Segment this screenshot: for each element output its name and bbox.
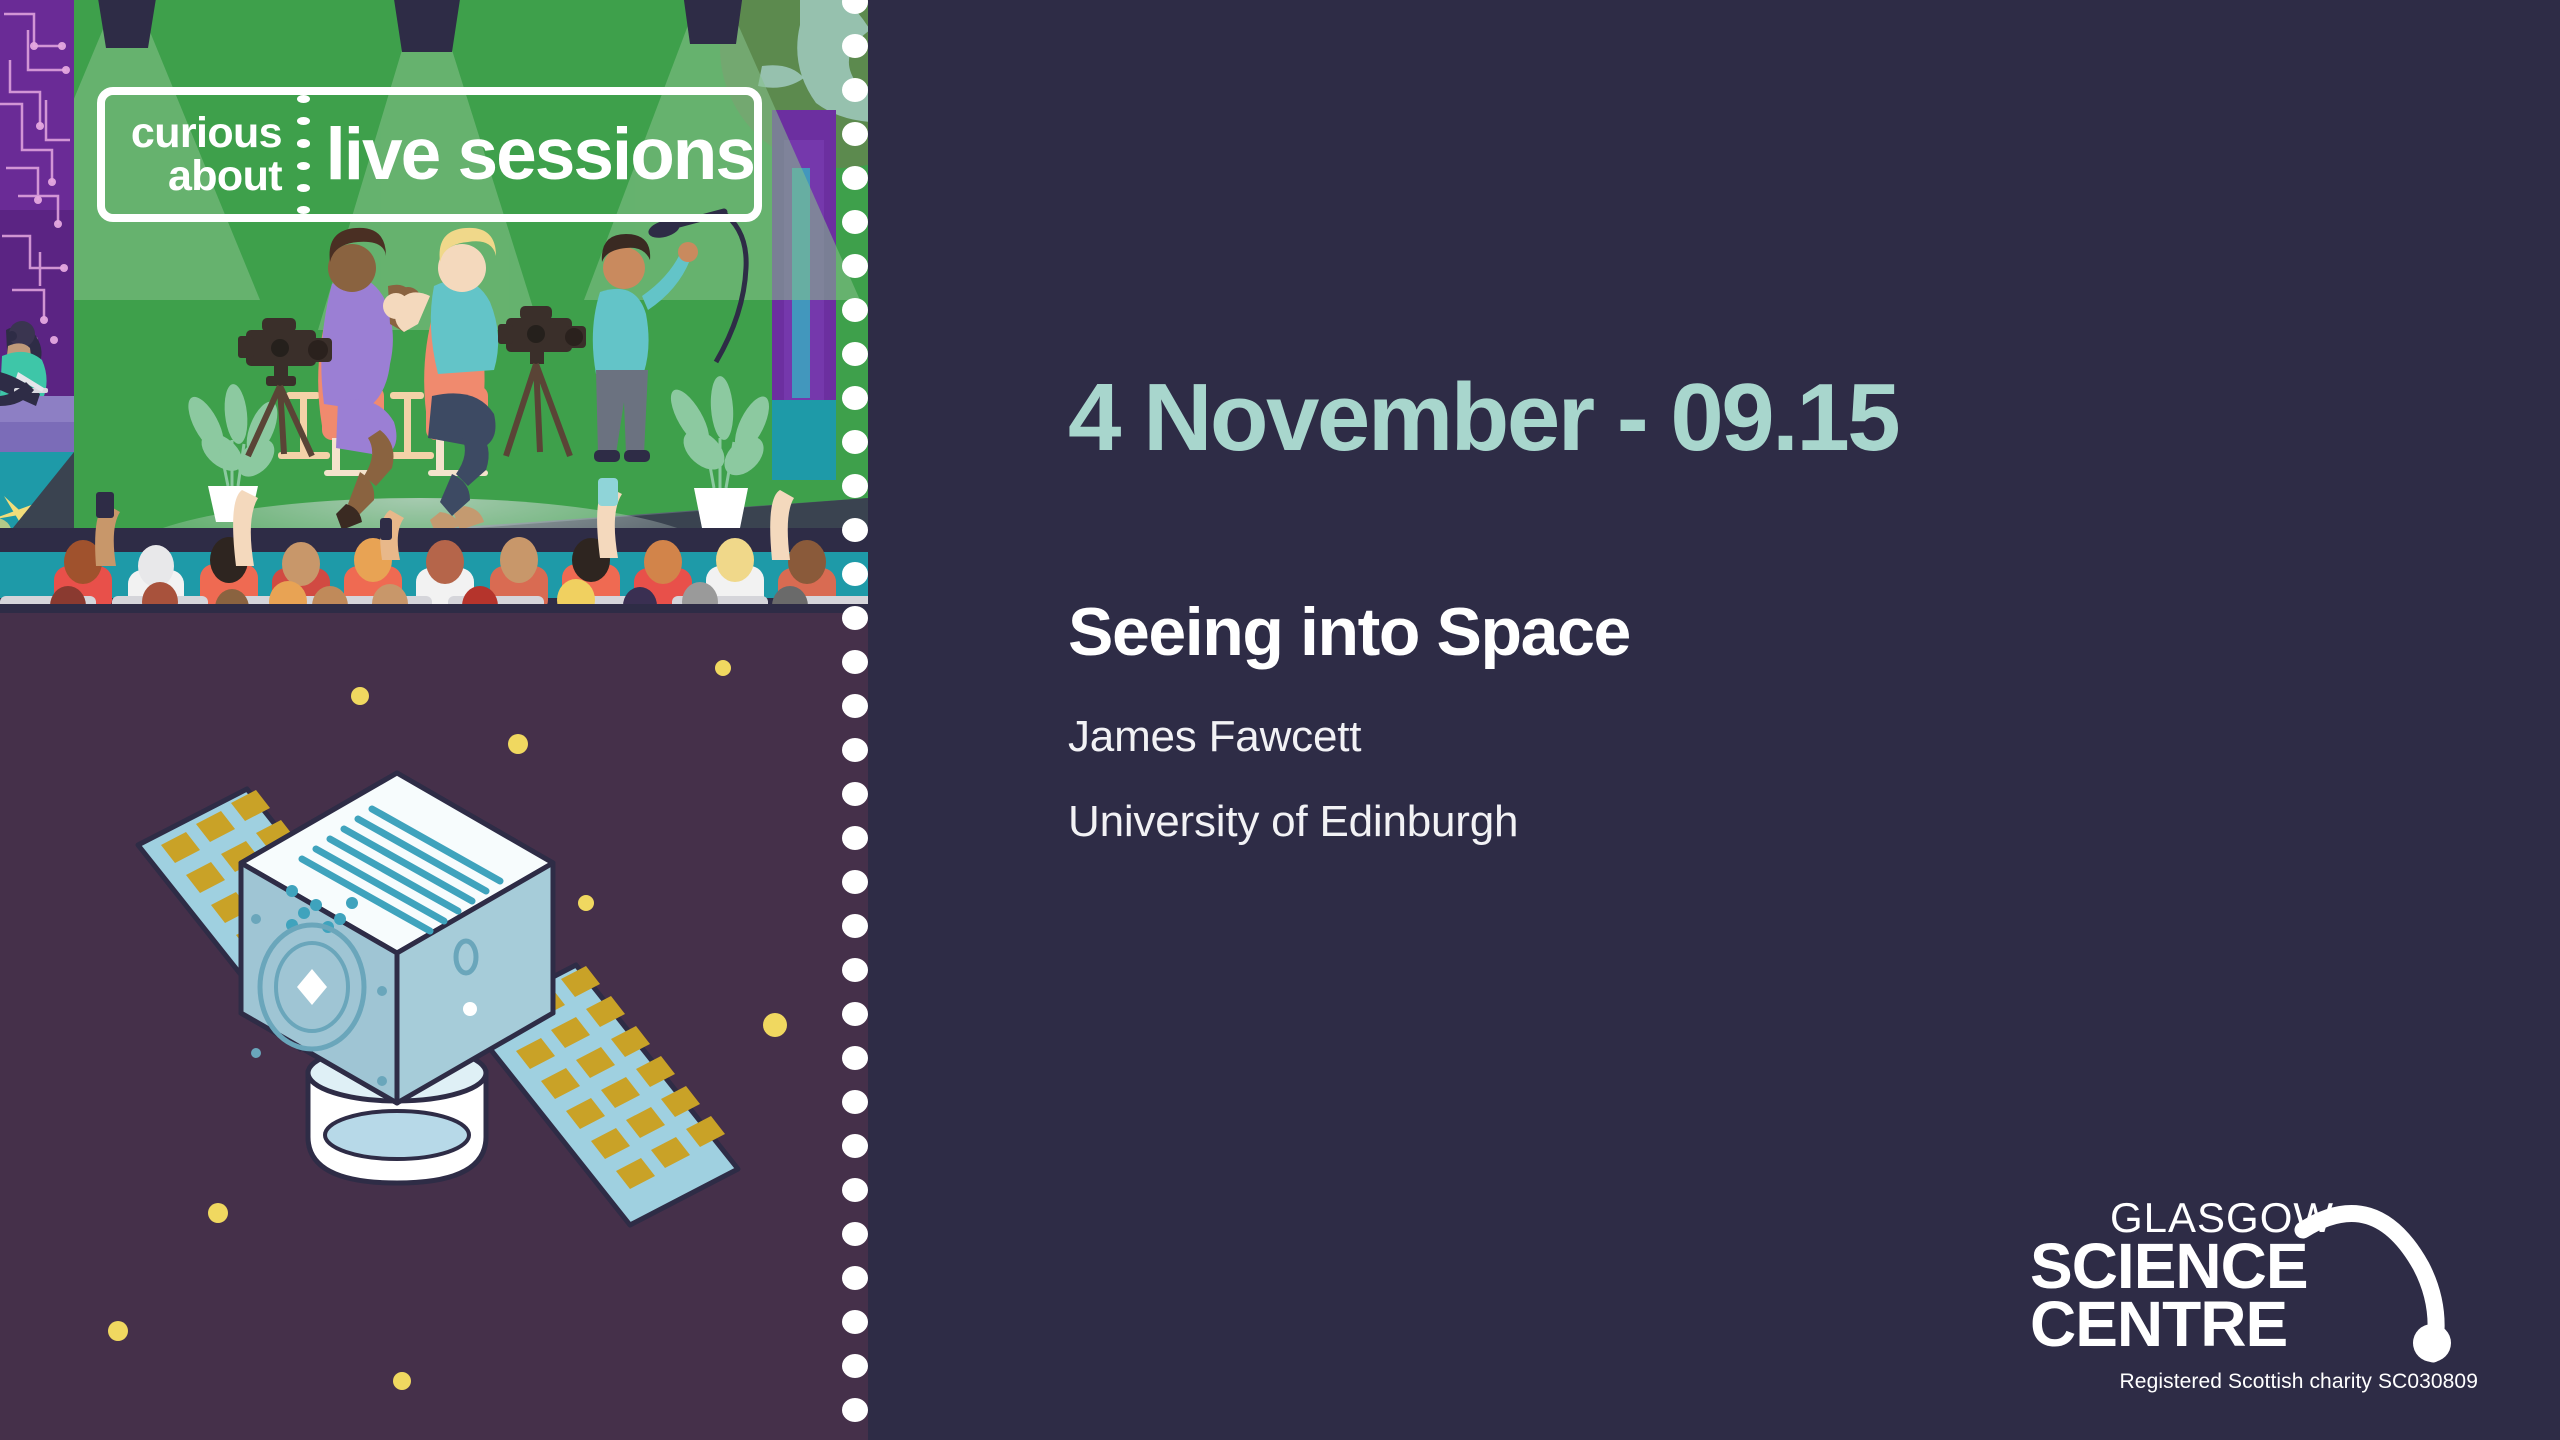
satellite-scene-graphic: [0, 613, 868, 1440]
logo-lockup: GLASGOW SCIENCE CENTRE Registered Scotti…: [2008, 1188, 2478, 1388]
badge-prefix-label: curious about: [105, 112, 282, 196]
session-date: 4 November - 09.15: [1068, 370, 1898, 466]
logo-line-centre: CENTRE: [2030, 1288, 2287, 1360]
glasgow-science-centre-logo: GLASGOW SCIENCE CENTRE Registered Scotti…: [2008, 1188, 2478, 1388]
speaker-affiliation: University of Edinburgh: [1068, 800, 1518, 844]
illustration-panel: curious about live sessions: [0, 0, 868, 1440]
live-session-stage-illustration: curious about live sessions: [0, 0, 868, 613]
badge-title-label: live sessions: [325, 118, 754, 191]
logo-exclamation-dot: [2413, 1324, 2451, 1362]
charity-registration-text: Registered Scottish charity SC030809: [2008, 1370, 2478, 1394]
dotted-divider: [838, 0, 868, 1440]
curious-about-live-sessions-badge: curious about live sessions: [97, 87, 762, 222]
satellite-in-space-illustration: [0, 613, 868, 1440]
presentation-slide: curious about live sessions: [0, 0, 2560, 1440]
badge-dot-separator: [282, 95, 325, 214]
speaker-name: James Fawcett: [1068, 715, 1361, 759]
logo-wordmark-graphic: GLASGOW SCIENCE CENTRE: [2008, 1188, 2478, 1368]
session-title: Seeing into Space: [1068, 598, 1630, 666]
